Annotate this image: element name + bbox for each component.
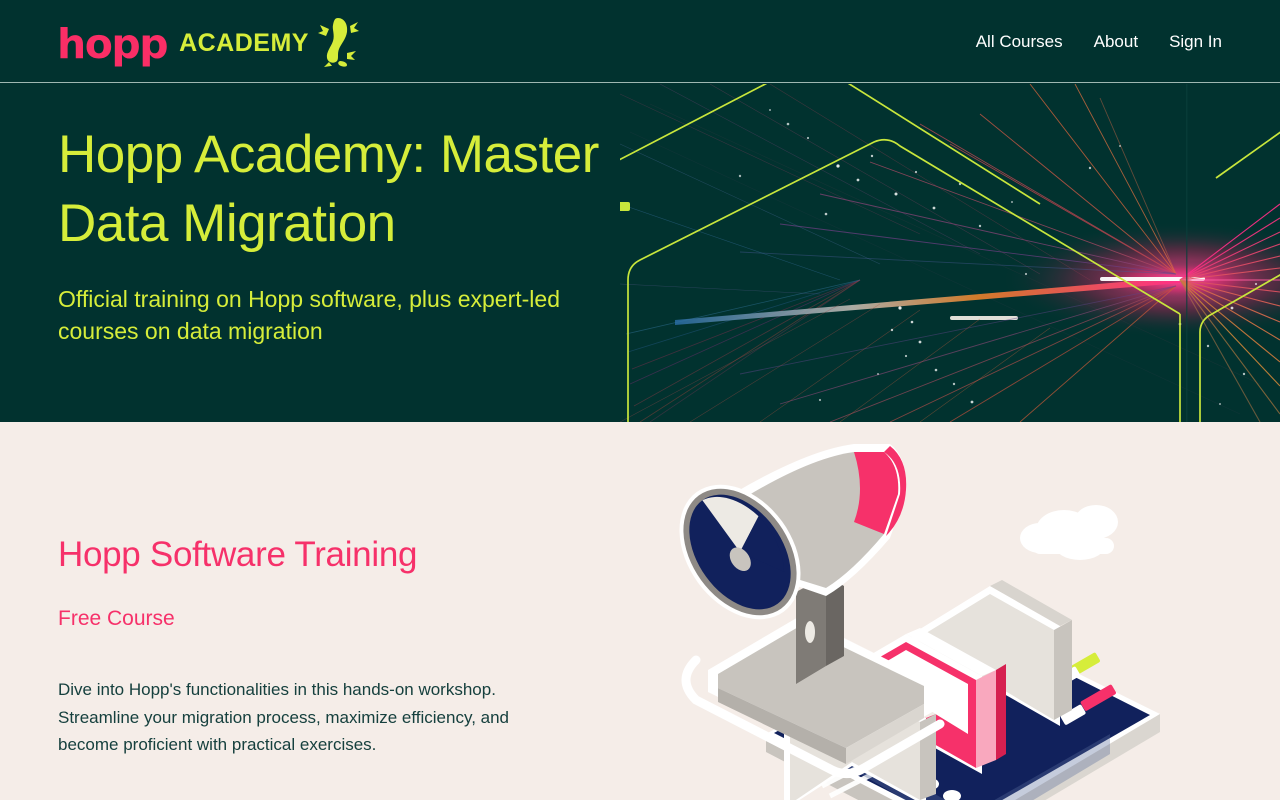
hero-subtitle: Official training on Hopp software, plus…	[58, 283, 658, 347]
course-price-tag: Free Course	[58, 607, 598, 631]
main-nav: All Courses About Sign In	[976, 0, 1222, 83]
frog-icon	[317, 16, 359, 73]
nav-about[interactable]: About	[1094, 33, 1138, 50]
hero-copy: Hopp Academy: Master Data Migration Offi…	[58, 120, 658, 347]
hero-title: Hopp Academy: Master Data Migration	[58, 120, 658, 259]
nav-all-courses[interactable]: All Courses	[976, 33, 1063, 50]
brand-logo[interactable]: hopp ACADEMY	[57, 16, 359, 73]
brand-name-hopp: hopp	[57, 24, 167, 65]
hero-section: Hopp Academy: Master Data Migration Offi…	[0, 84, 1280, 422]
site-header: hopp ACADEMY All Courses About Si	[0, 0, 1280, 83]
hero-background-graphic	[620, 84, 1280, 422]
course-copy: Hopp Software Training Free Course Dive …	[58, 534, 598, 759]
nav-sign-in[interactable]: Sign In	[1169, 33, 1222, 50]
course-title: Hopp Software Training	[58, 534, 598, 576]
course-description: Dive into Hopp's functionalities in this…	[58, 676, 558, 759]
brand-name-academy: ACADEMY	[179, 31, 309, 56]
course-illustration	[640, 434, 1240, 800]
course-section: Hopp Software Training Free Course Dive …	[0, 422, 1280, 800]
page-root: hopp ACADEMY All Courses About Si	[0, 0, 1280, 800]
cloud-shape	[1020, 505, 1118, 560]
